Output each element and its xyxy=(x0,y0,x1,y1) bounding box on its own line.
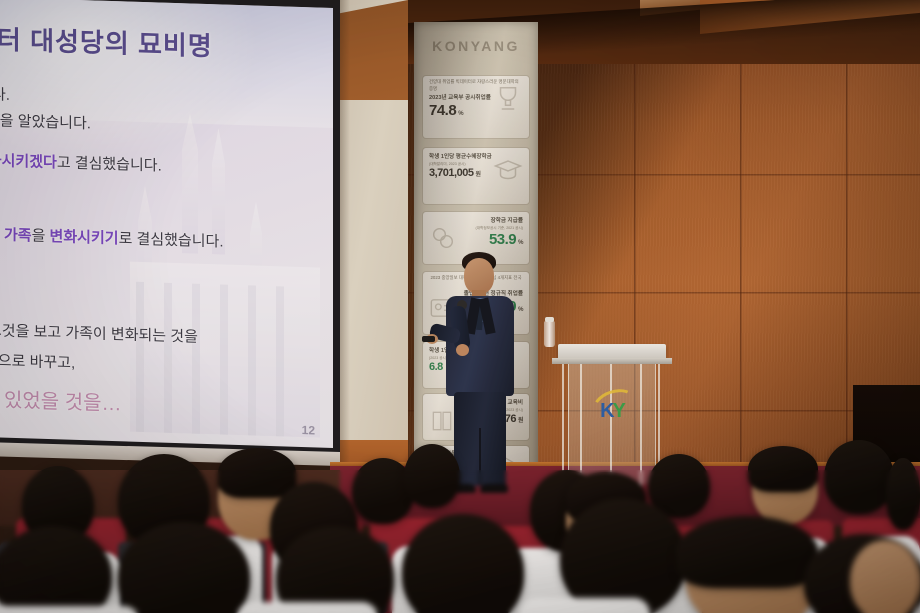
podium-ky-logo: KY xyxy=(586,396,638,426)
water-bottle-cap xyxy=(545,317,554,322)
student-hair xyxy=(218,448,296,498)
slide-title: 스터 대성당의 묘비명 xyxy=(0,19,213,64)
student-hair-front xyxy=(676,516,818,588)
slide-line-7: 수 있었을 것을… xyxy=(0,383,122,416)
student-head xyxy=(886,458,920,530)
presentation-clicker xyxy=(422,336,435,342)
student-head xyxy=(824,440,894,514)
photo-scene: 스터 대성당의 묘비명 다. 것을 알았습니다. 변화시키겠다고 결심했습니다.… xyxy=(0,0,920,613)
speaker-hand-right xyxy=(456,344,469,356)
student-hair xyxy=(748,446,818,492)
student-shoulder-front xyxy=(0,606,140,613)
water-bottle xyxy=(544,321,555,347)
audience-area: D-4 xyxy=(0,430,920,613)
slide-line-3-rest: 고 결심했습니다. xyxy=(57,154,162,174)
podium-logo-k: K xyxy=(600,400,612,423)
slide-highlight-2: 가족 xyxy=(4,227,32,245)
slide-line-3: 변화시키겠다고 결심했습니다. xyxy=(0,149,162,176)
student-head xyxy=(404,444,460,508)
slide-line-4-mid: 을 xyxy=(32,228,50,246)
student-shoulder-front xyxy=(520,598,650,613)
slide-line-2: 것을 알았습니다. xyxy=(0,109,91,133)
slide-line-4-post: 로 결심했습니다. xyxy=(119,230,224,250)
slide-line-5: 그것을 보고 가족이 변화되는 것을 xyxy=(0,319,198,347)
speaker-head xyxy=(464,258,494,294)
slide-line-1: 다. xyxy=(0,83,10,105)
slide-text-layer: 스터 대성당의 묘비명 다. 것을 알았습니다. 변화시키겠다고 결심했습니다.… xyxy=(0,0,333,448)
slide-highlight-3: 변화시키기 xyxy=(50,228,119,247)
student-shoulder-front xyxy=(238,602,378,613)
slide-line-4: 운 가족을 변화시키기로 결심했습니다. xyxy=(0,223,224,251)
projection-screen: 스터 대성당의 묘비명 다. 것을 알았습니다. 변화시키겠다고 결심했습니다.… xyxy=(0,0,333,448)
podium-logo-y: Y xyxy=(613,400,624,423)
student-head-front xyxy=(850,540,920,613)
slide-line-6: 곳으로 바꾸고, xyxy=(0,349,75,373)
slide-highlight-1: 변화시키겠다 xyxy=(0,152,57,172)
student-head-front xyxy=(560,498,686,613)
